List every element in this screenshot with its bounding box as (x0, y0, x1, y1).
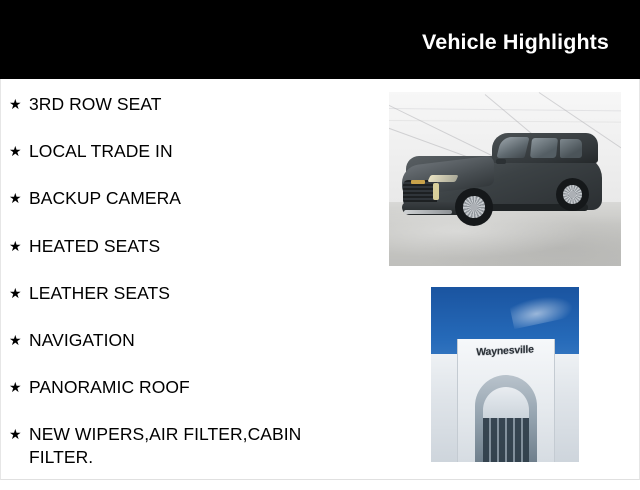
highlights-list: ★ 3RD ROW SEAT ★ LOCAL TRADE IN ★ BACKUP… (1, 79, 386, 490)
suv-front-window (530, 138, 558, 158)
suv-front-wheel (455, 188, 493, 226)
highlight-label: HEATED SEATS (29, 235, 354, 258)
page-title: Vehicle Highlights (422, 25, 609, 54)
list-item: ★ LEATHER SEATS (1, 282, 386, 309)
highlight-label: LOCAL TRADE IN (29, 140, 354, 163)
highlight-label: LEATHER SEATS (29, 282, 354, 305)
list-item: ★ 3RD ROW SEAT (1, 93, 386, 120)
entrance-doors (483, 418, 529, 462)
suv-emblem-icon (411, 180, 425, 184)
entrance-arch (475, 375, 537, 462)
suv-chrome-trim (404, 210, 452, 214)
suv-illustration (400, 128, 608, 232)
star-bullet-icon: ★ (9, 93, 29, 114)
content-area: ★ 3RD ROW SEAT ★ LOCAL TRADE IN ★ BACKUP… (0, 79, 640, 480)
vehicle-highlights-page: Vehicle Highlights ★ 3RD ROW SEAT ★ LOCA… (0, 0, 640, 480)
star-bullet-icon: ★ (9, 187, 29, 208)
suv-side-mirror (496, 159, 506, 164)
highlight-label: NEW WIPERS,AIR FILTER,CABIN FILTER. (29, 423, 354, 469)
highlight-label: 3RD ROW SEAT (29, 93, 354, 116)
page-header: Vehicle Highlights (0, 0, 640, 79)
star-bullet-icon: ★ (9, 423, 29, 444)
suv-rear-wheel (556, 178, 589, 211)
highlight-label: PANORAMIC ROOF (29, 376, 354, 399)
list-item: ★ BACKUP CAMERA (1, 187, 386, 214)
suv-rear-window (560, 139, 582, 158)
list-item: ★ NEW WIPERS,AIR FILTER,CABIN FILTER. (1, 423, 386, 469)
star-bullet-icon: ★ (9, 235, 29, 256)
list-item: ★ LOCAL TRADE IN (1, 140, 386, 167)
vehicle-photo[interactable] (389, 92, 621, 266)
highlight-label: BACKUP CAMERA (29, 187, 354, 210)
list-item: ★ NAVIGATION (1, 329, 386, 356)
star-bullet-icon: ★ (9, 329, 29, 350)
highlight-label: NAVIGATION (29, 329, 354, 352)
list-item: ★ HEATED SEATS (1, 235, 386, 262)
suv-headlight (427, 175, 458, 182)
star-bullet-icon: ★ (9, 376, 29, 397)
dealership-photo[interactable]: Waynesville (431, 287, 579, 462)
star-bullet-icon: ★ (9, 140, 29, 161)
suv-daytime-running-light (433, 183, 439, 200)
list-item: ★ PANORAMIC ROOF (1, 376, 386, 403)
star-bullet-icon: ★ (9, 282, 29, 303)
